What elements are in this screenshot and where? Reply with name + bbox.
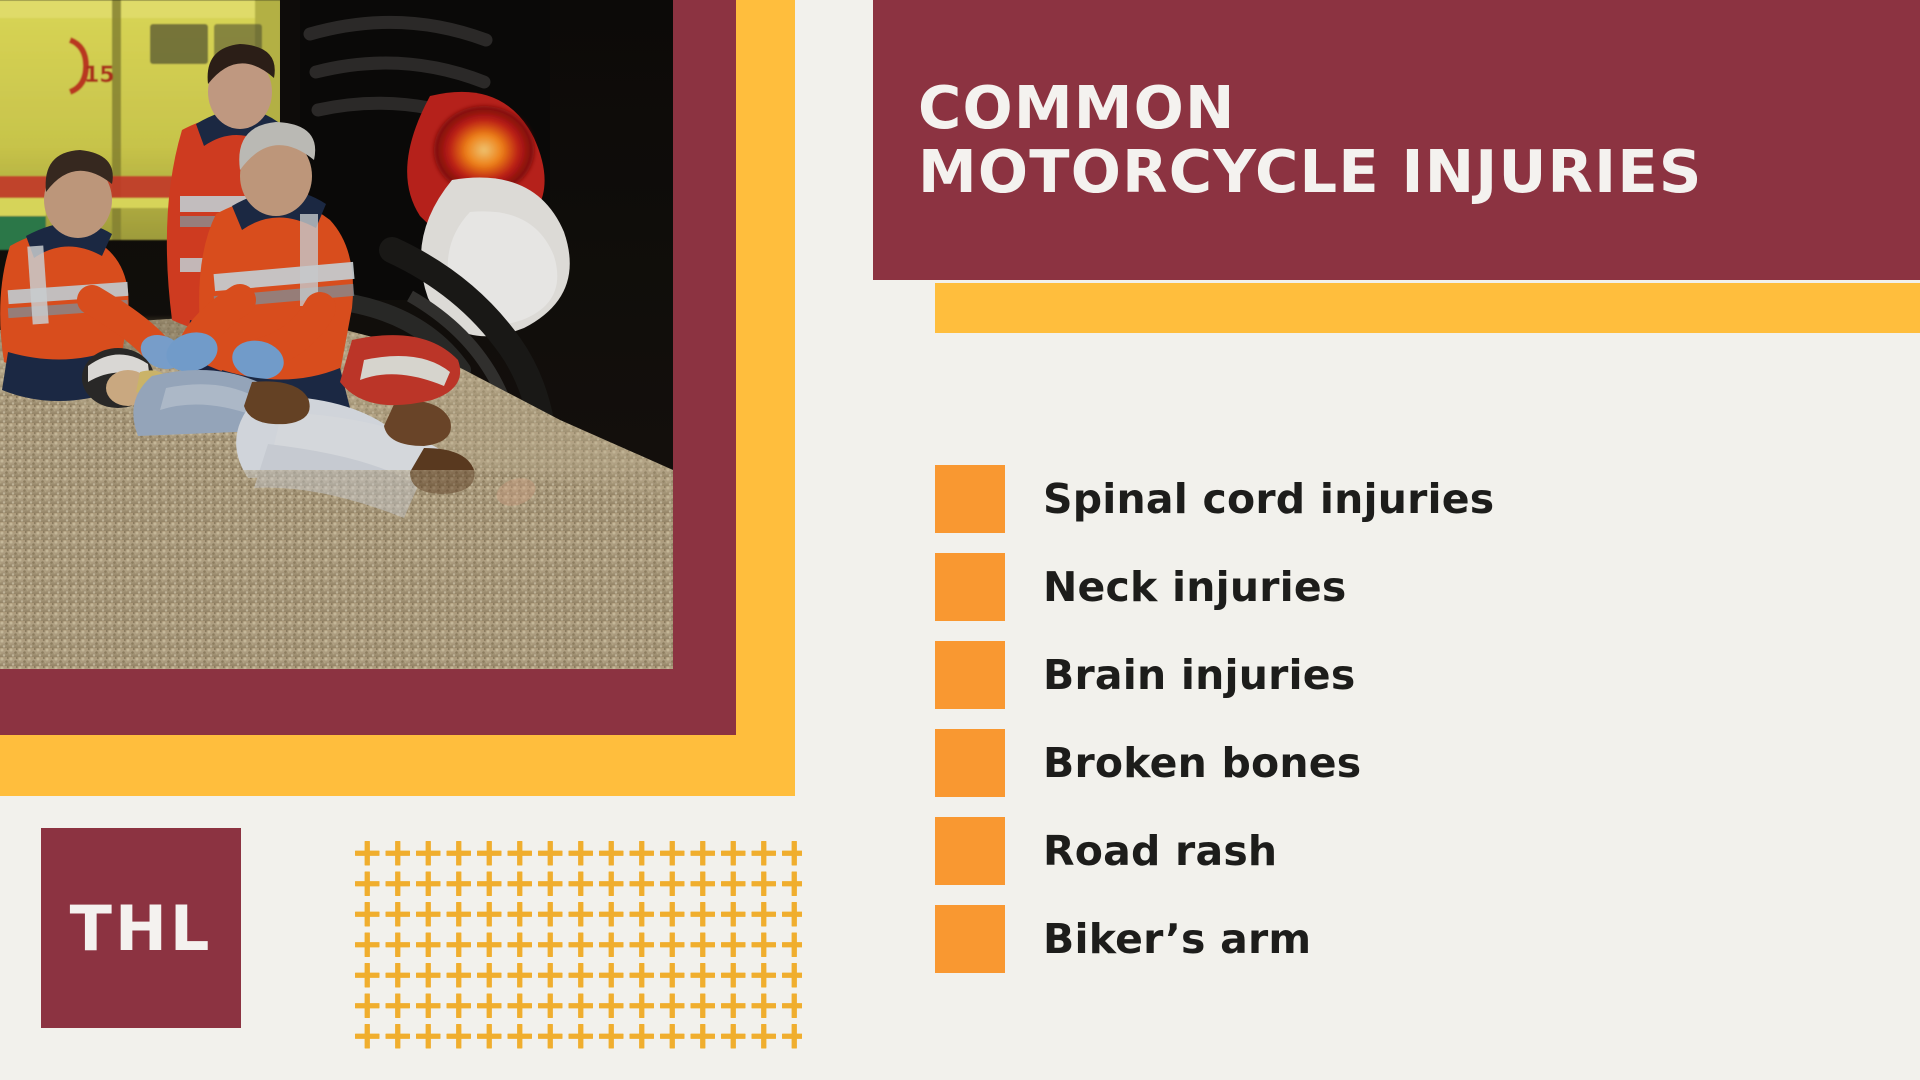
logo-text: THL <box>70 892 213 965</box>
page-title: COMMON MOTORCYCLE INJURIES <box>873 76 1703 203</box>
list-item-label: Neck injuries <box>1043 563 1347 611</box>
injury-list: Spinal cord injuries Neck injuries Brain… <box>935 455 1835 983</box>
list-item-label: Biker’s arm <box>1043 915 1311 963</box>
plus-grid-decoration <box>352 838 802 1053</box>
list-item-label: Brain injuries <box>1043 651 1355 699</box>
square-bullet-icon <box>935 641 1005 709</box>
thl-logo: THL <box>41 828 241 1028</box>
list-item: Neck injuries <box>935 543 1835 631</box>
square-bullet-icon <box>935 729 1005 797</box>
list-item: Spinal cord injuries <box>935 455 1835 543</box>
list-item: Road rash <box>935 807 1835 895</box>
list-item-label: Broken bones <box>1043 739 1361 787</box>
list-item: Broken bones <box>935 719 1835 807</box>
title-accent-bar <box>935 283 1920 333</box>
list-item-label: Road rash <box>1043 827 1277 875</box>
title-banner: COMMON MOTORCYCLE INJURIES <box>873 0 1920 280</box>
list-item: Biker’s arm <box>935 895 1835 983</box>
accident-scene-photo: 15 <box>0 0 673 669</box>
square-bullet-icon <box>935 465 1005 533</box>
square-bullet-icon <box>935 817 1005 885</box>
square-bullet-icon <box>935 553 1005 621</box>
list-item-label: Spinal cord injuries <box>1043 475 1494 523</box>
list-item: Brain injuries <box>935 631 1835 719</box>
infographic-canvas: 15 <box>0 0 1920 1080</box>
square-bullet-icon <box>935 905 1005 973</box>
